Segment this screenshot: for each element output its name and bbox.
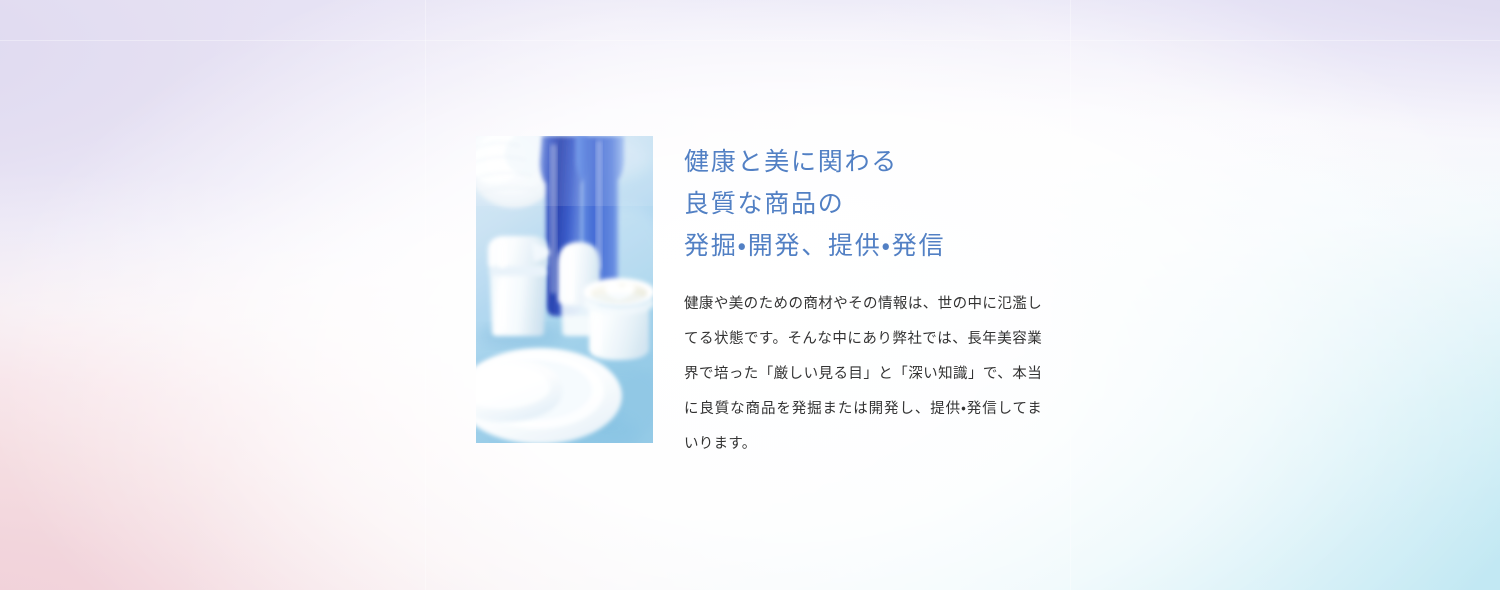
hero-content: 健康と美に関わる 良質な商品の 発掘・開発、提供・発信 健康や美のための商材やそ… (476, 136, 1076, 462)
headline-line-3: 発掘・開発、提供・発信 (684, 225, 1044, 267)
headline-line-2: 良質な商品の (684, 183, 1044, 225)
seam-vertical-left (425, 0, 426, 590)
hero-description: 健康や美のための商材やその情報は、世の中に氾濫してる状態です。そんな中にあり弊社… (684, 287, 1042, 462)
page-title: 健康と美に関わる 良質な商品の 発掘・開発、提供・発信 (684, 141, 1044, 267)
seam-horizontal-top (0, 40, 1500, 41)
headline-line-1: 健康と美に関わる (684, 141, 1044, 183)
hero-photo-frame (476, 136, 653, 443)
cosmetics-photo (476, 136, 653, 443)
hero-text-column: 健康と美に関わる 良質な商品の 発掘・開発、提供・発信 健康や美のための商材やそ… (684, 136, 1044, 462)
hero-section: 健康と美に関わる 良質な商品の 発掘・開発、提供・発信 健康や美のための商材やそ… (0, 0, 1500, 590)
